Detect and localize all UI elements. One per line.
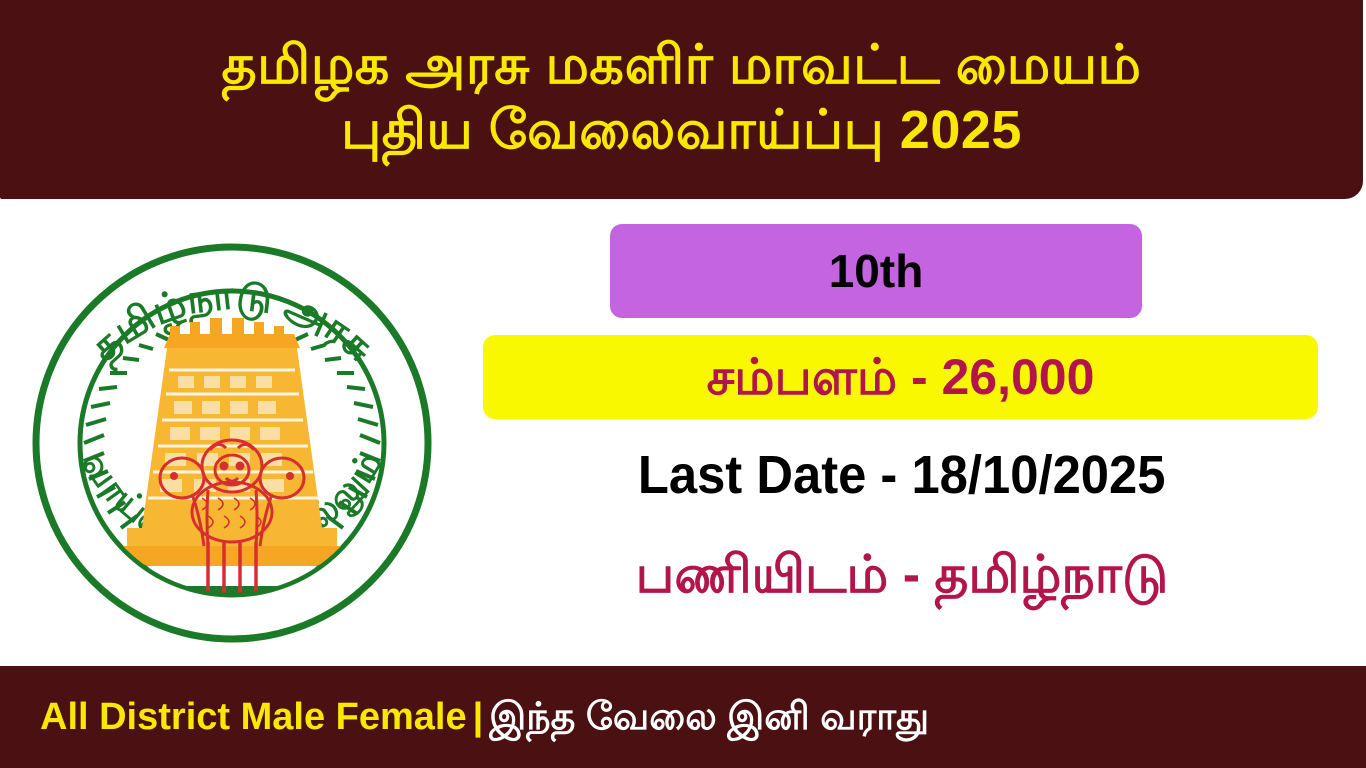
last-date-label: Last Date - 18/10/2025 <box>638 448 1166 502</box>
header-banner: தமிழக அரசு மகளிர் மாவட்ட மையம் புதிய வேல… <box>0 0 1363 199</box>
location-row: பணியிடம் - தமிழ்நாடு <box>452 532 1352 618</box>
salary-badge-label: சம்பளம் - 26,000 <box>707 352 1095 402</box>
qualification-badge-label: 10th <box>829 248 924 294</box>
footer-banner: All District Male Female | இந்த வேலை இனி… <box>0 666 1366 768</box>
last-date-row: Last Date - 18/10/2025 <box>452 438 1352 512</box>
location-label: பணியிடம் - தமிழ்நாடு <box>636 549 1169 601</box>
job-notification-poster: தமிழக அரசு மகளிர் மாவட்ட மையம் புதிய வேல… <box>0 0 1366 768</box>
footer-tamil-text: இந்த வேலை இனி வராது <box>489 698 929 736</box>
qualification-badge: 10th <box>610 224 1142 318</box>
details-column: 10th சம்பளம் - 26,000 Last Date - 18/10/… <box>452 200 1352 666</box>
tamil-nadu-emblem-icon: தமிழ்நாடு அரசு வாய்மையே வெல்லும் <box>22 198 442 668</box>
gopuram-icon <box>127 318 337 546</box>
footer-english-text: All District Male Female <box>40 698 467 736</box>
tamil-nadu-emblem: தமிழ்நாடு அரசு வாய்மையே வெல்லும் <box>22 198 442 668</box>
header-title-line-1: தமிழக அரசு மகளிர் மாவட்ட மையம் <box>222 35 1142 95</box>
header-title-line-2: புதிய வேலைவாய்ப்பு 2025 <box>341 100 1022 160</box>
salary-badge: சம்பளம் - 26,000 <box>483 335 1318 419</box>
footer-separator: | <box>467 698 490 736</box>
